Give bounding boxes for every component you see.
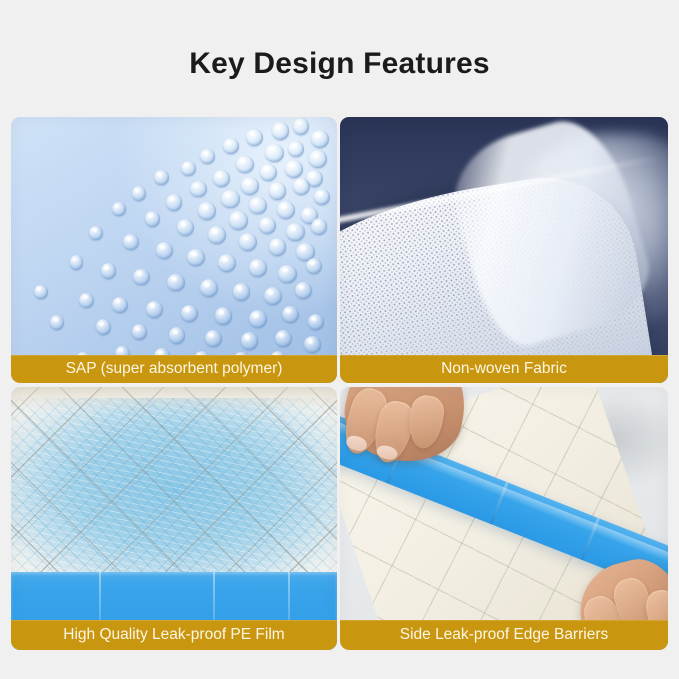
edge-barriers-photo: [340, 387, 668, 650]
pe-film-photo: [11, 387, 337, 650]
feature-panel-grid: SAP (super absorbent polymer) Non-woven …: [11, 117, 668, 650]
panel-caption-non-woven-fabric: Non-woven Fabric: [340, 355, 668, 383]
panel-caption-sap: SAP (super absorbent polymer): [11, 355, 337, 383]
sap-beads-photo: [11, 117, 337, 383]
pad-top-shadow: [11, 387, 337, 411]
feature-panel-sap[interactable]: SAP (super absorbent polymer): [11, 117, 337, 383]
page-title: Key Design Features: [0, 46, 679, 82]
feature-panel-non-woven-fabric[interactable]: Non-woven Fabric: [340, 117, 668, 383]
non-woven-fabric-photo: [340, 117, 668, 383]
panel-caption-pe-film: High Quality Leak-proof PE Film: [11, 620, 337, 650]
feature-panel-pe-film[interactable]: High Quality Leak-proof PE Film: [11, 387, 337, 650]
panel-caption-edge-barriers: Side Leak-proof Edge Barriers: [340, 620, 668, 650]
feature-panel-edge-barriers[interactable]: Side Leak-proof Edge Barriers: [340, 387, 668, 650]
